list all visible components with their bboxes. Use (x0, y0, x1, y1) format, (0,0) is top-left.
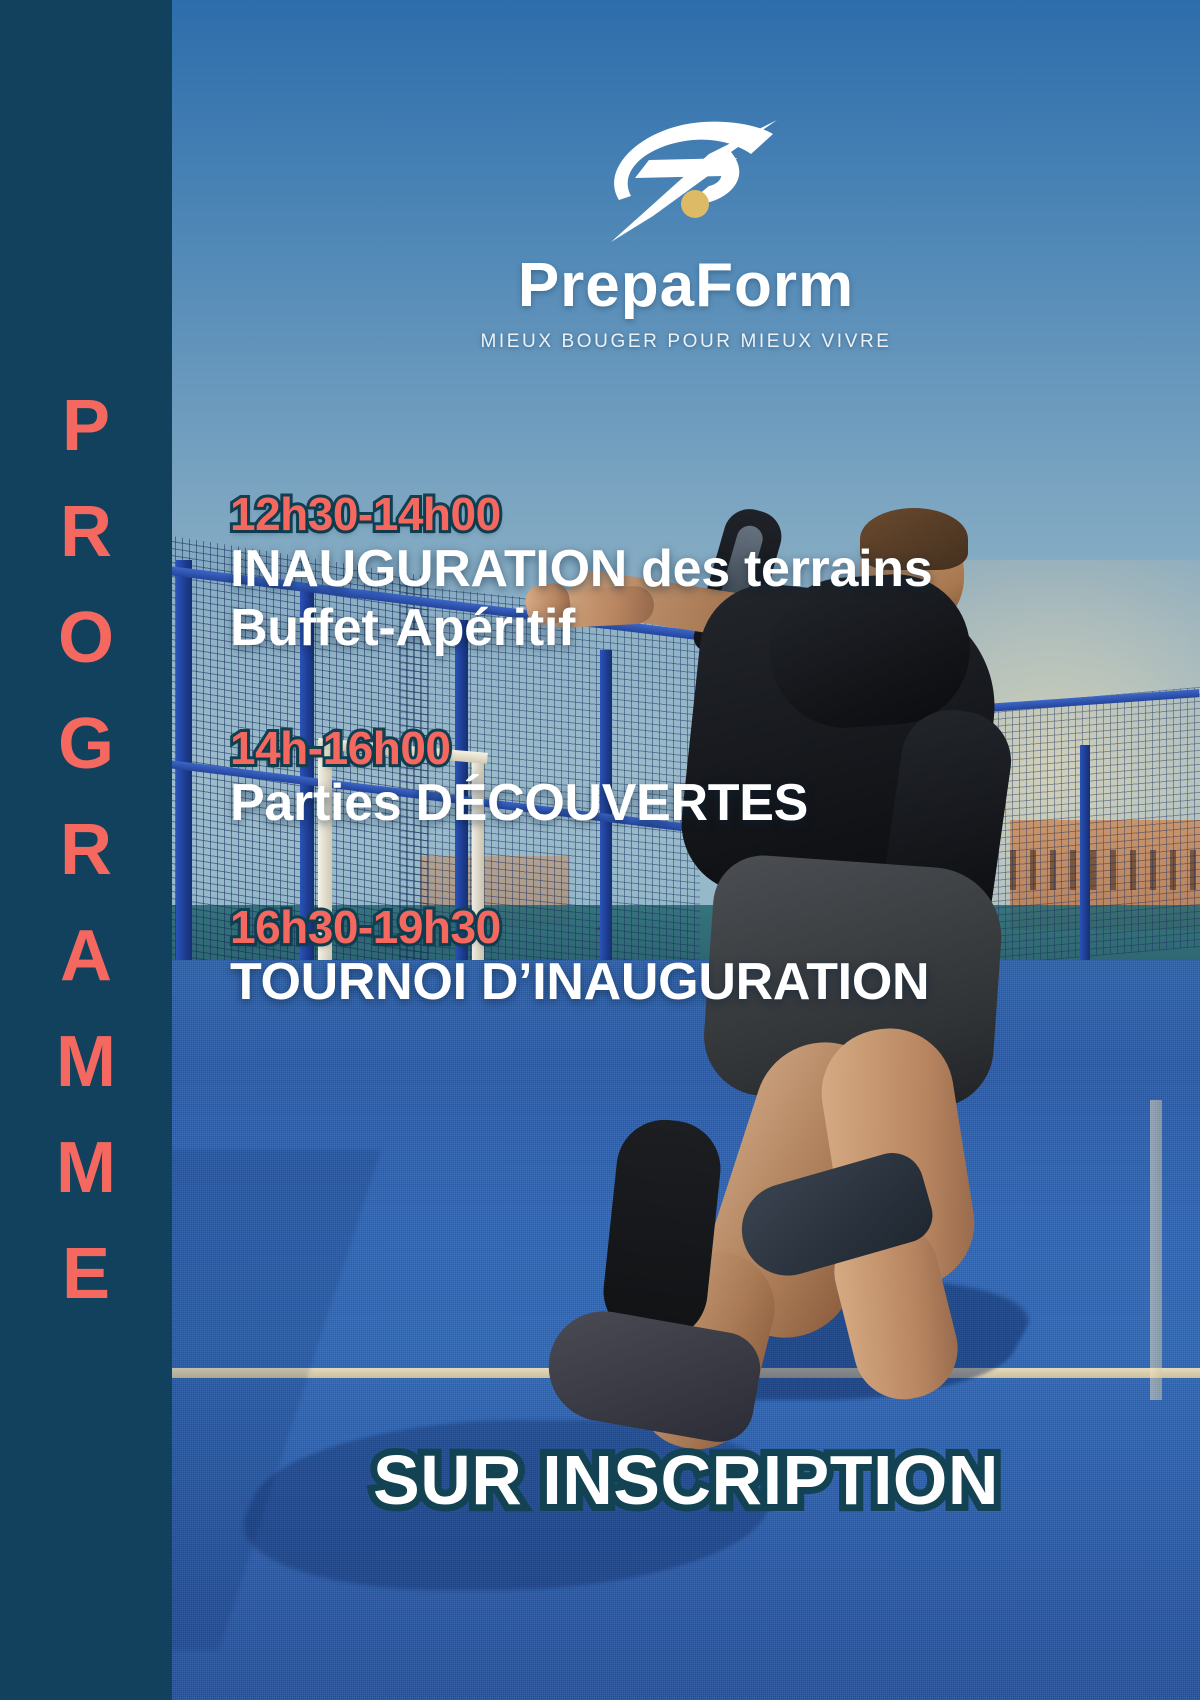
programme-letter-0: P (62, 390, 110, 462)
schedule-title-3a: TOURNOI D’INAUGURATION (230, 953, 1170, 1012)
schedule-block-1: 12h30-14h00 INAUGURATION des terrains Bu… (230, 490, 1170, 658)
programme-letter-4: R (60, 814, 112, 886)
programme-letter-8: E (62, 1238, 110, 1310)
programme-letter-1: R (60, 496, 112, 568)
registration-banner: SUR INSCRIPTION (172, 1440, 1200, 1520)
registration-banner-text: SUR INSCRIPTION (373, 1440, 999, 1520)
schedule-time-2: 14h-16h00 (230, 724, 1170, 774)
schedule-block-2: 14h-16h00 Parties DÉCOUVERTES (230, 724, 1170, 833)
programme-letter-3: G (58, 708, 114, 780)
prepaform-f-swoosh-icon (591, 112, 781, 244)
programme-vertical-word: P R O G R A M M E (56, 373, 116, 1327)
poster-root: P R O G R A M M E PrepaForm MIEUX BOUGER… (0, 0, 1200, 1700)
court-line-vertical-2 (1150, 1100, 1162, 1400)
schedule-time-1: 12h30-14h00 (230, 490, 1170, 540)
schedule-time-3: 16h30-19h30 (230, 903, 1170, 953)
brand-name: PrepaForm (172, 250, 1200, 321)
schedule-title-1a: INAUGURATION des terrains (230, 540, 1170, 599)
fence-post (176, 560, 192, 990)
programme-letter-6: M (56, 1026, 116, 1098)
schedule-title-1b: Buffet-Apéritif (230, 599, 1170, 658)
programme-sidebar: P R O G R A M M E (0, 0, 172, 1700)
programme-letter-7: M (56, 1132, 116, 1204)
programme-schedule-list: 12h30-14h00 INAUGURATION des terrains Bu… (230, 490, 1170, 1068)
brand-name-text: PrepaForm (518, 251, 854, 320)
brand-logo-block: PrepaForm MIEUX BOUGER POUR MIEUX VIVRE (172, 112, 1200, 353)
programme-letter-5: A (60, 920, 112, 992)
schedule-title-2a: Parties DÉCOUVERTES (230, 774, 1170, 833)
programme-letter-2: O (58, 602, 114, 674)
brand-tagline: MIEUX BOUGER POUR MIEUX VIVRE (172, 331, 1200, 353)
schedule-block-3: 16h30-19h30 TOURNOI D’INAUGURATION (230, 903, 1170, 1012)
